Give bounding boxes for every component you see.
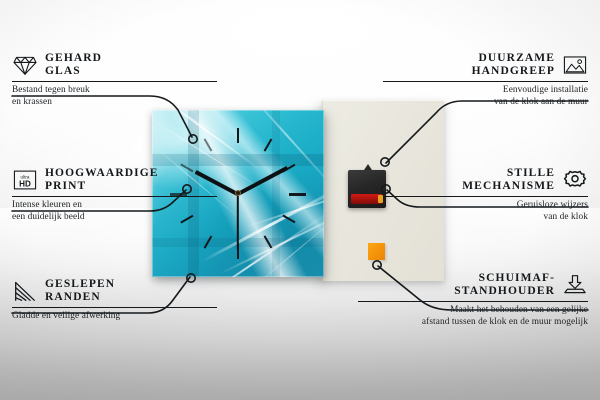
foam-spacer-pad [368,243,385,260]
feature-schuimafstandhouder[interactable]: SCHUIMAF- STANDHOUDER Maakt het behouden… [358,272,588,328]
feature-description: Intense kleuren en een duidelijk beeld [12,200,217,223]
feature-rule [12,307,217,308]
feature-description: Eenvoudige installatie van de klok aan d… [383,85,588,108]
foam-pad-shadow [385,245,389,262]
feature-header: GEHARD GLAS [12,52,217,78]
feature-header: DUURZAME HANDGREEP [383,52,588,78]
feature-title: HOOGWAARDIGE PRINT [45,167,159,193]
beveled-edges-icon [12,280,38,302]
feature-hoogwaardige-print[interactable]: ultra HD HOOGWAARDIGE PRINT Intense kleu… [12,167,217,223]
feature-rule [12,81,217,82]
hd-label: HD [19,179,31,188]
feature-geslepen-randen[interactable]: GESLEPEN RANDEN Gladde en veilige afwerk… [12,278,217,323]
foam-spacer-icon [562,274,588,296]
picture-frame-icon [562,54,588,76]
feature-duurzame-handgreep[interactable]: DUURZAME HANDGREEP Eenvoudige installati… [383,52,588,108]
feature-title: GESLEPEN RANDEN [45,278,115,304]
gear-icon [562,169,588,191]
feature-description: Maakt het behouden van een gelijke afsta… [358,305,588,328]
feature-title: GEHARD GLAS [45,52,102,78]
diamond-icon [12,54,38,76]
feature-rule [358,301,588,302]
feature-rule [383,81,588,82]
feature-title: DUURZAME HANDGREEP [472,52,555,78]
feature-description: Gladde en veilige afwerking [12,311,217,322]
feature-stille-mechanisme[interactable]: STILLE MECHANISME Geruisloze wijzers van… [383,167,588,223]
feature-rule [12,196,217,197]
feature-header: GESLEPEN RANDEN [12,278,217,304]
feature-gehard-glas[interactable]: GEHARD GLAS Bestand tegen breuk en krass… [12,52,217,108]
ultra-hd-icon: ultra HD [12,169,38,191]
feature-header: SCHUIMAF- STANDHOUDER [358,272,588,298]
feature-header: STILLE MECHANISME [383,167,588,193]
feature-title: SCHUIMAF- STANDHOUDER [454,272,555,298]
feature-title: STILLE MECHANISME [462,167,555,193]
feature-header: ultra HD HOOGWAARDIGE PRINT [12,167,217,193]
feature-description: Bestand tegen breuk en krassen [12,85,217,108]
feature-description: Geruisloze wijzers van de klok [383,200,588,223]
feature-rule [383,196,588,197]
